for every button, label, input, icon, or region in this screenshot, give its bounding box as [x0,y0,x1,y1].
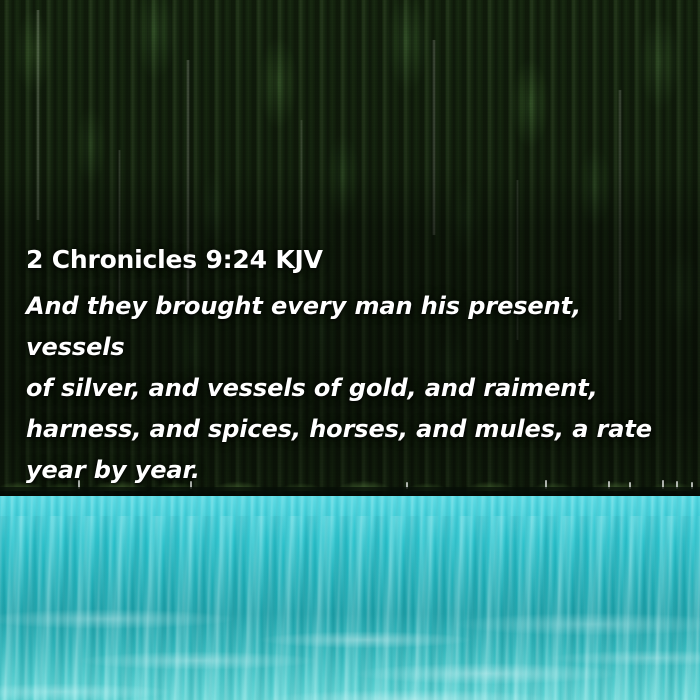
verse-line: of silver, and vessels of gold, and raim… [26,368,678,409]
water-sheen [0,496,700,700]
verse-line: year by year. [26,450,678,491]
verse-line: And they brought every man his present, … [26,286,678,368]
verse-text-block: 2 Chronicles 9:24 KJV And they brought e… [26,243,678,491]
verse-line: harness, and spices, horses, and mules, … [26,409,678,450]
verse-body: And they brought every man his present, … [26,286,678,491]
verse-image-canvas: 2 Chronicles 9:24 KJV And they brought e… [0,0,700,700]
verse-reference: 2 Chronicles 9:24 KJV [26,243,678,277]
lake-water [0,496,700,700]
